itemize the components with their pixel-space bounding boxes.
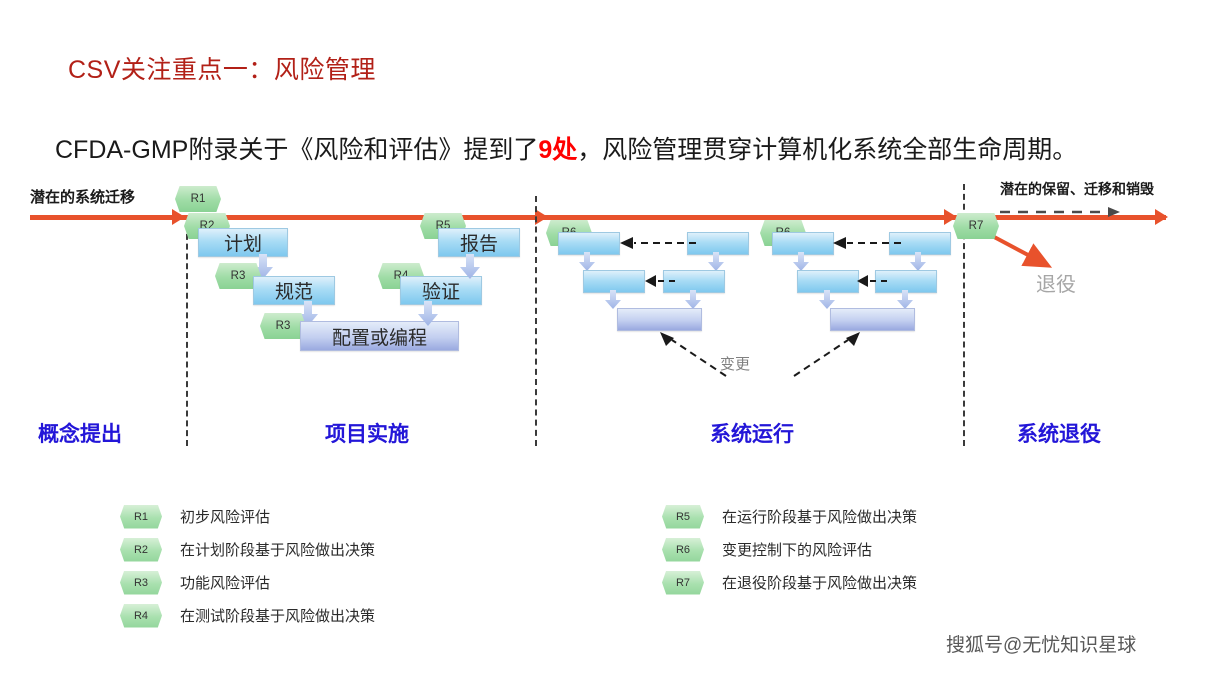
- legend-hex-icon: R6: [662, 538, 704, 562]
- phase-label-implementation: 项目实施: [325, 418, 409, 448]
- label-retire: 退役: [1036, 268, 1076, 297]
- down-arrow-b1-icon: [793, 252, 811, 272]
- subtitle-part-1: CFDA-GMP附录关于《风险和评估》提到了: [55, 136, 538, 164]
- subtitle-part-2: ，风险管理贯穿计算机化系统全部生命周期。: [577, 136, 1077, 164]
- dashed-arrow-a-top-icon: [620, 236, 698, 250]
- dashed-arrow-b-mid-icon: [857, 274, 889, 288]
- legend-description: 在计划阶段基于风险做出决策: [180, 539, 375, 560]
- dashed-arrow-b-top-icon: [833, 236, 903, 250]
- legend-description: 初步风险评估: [180, 506, 270, 527]
- down-arrow-a4-icon: [685, 290, 703, 310]
- timeline-arrowhead-4: [1155, 209, 1168, 225]
- legend-hex-icon: R5: [662, 505, 704, 529]
- legend-code: R5: [676, 511, 690, 523]
- legend-hex-icon: R4: [120, 604, 162, 628]
- legend-description: 在运行阶段基于风险做出决策: [722, 506, 917, 527]
- label-potential-migration: 潜在的系统迁移: [30, 186, 135, 207]
- slide-canvas: CSV关注重点一：风险管理 CFDA-GMP附录关于《风险和评估》提到了9处，风…: [0, 0, 1209, 680]
- legend-hex-icon: R7: [662, 571, 704, 595]
- process-box-verify: 验证: [400, 276, 482, 305]
- down-arrow-b2-icon: [910, 252, 928, 272]
- list-item: R6 变更控制下的风险评估: [662, 533, 917, 566]
- list-item: R7 在退役阶段基于风险做出决策: [662, 566, 917, 599]
- process-box-plan: 计划: [198, 228, 288, 257]
- down-arrow-report-to-verify-icon: [460, 254, 482, 280]
- risk-marker-label: R3: [276, 320, 291, 332]
- phase-divider-1: [186, 224, 188, 446]
- process-box-label: 配置或编程: [332, 323, 427, 350]
- legend-code: R3: [134, 577, 148, 589]
- risk-marker-label: R3: [231, 270, 246, 282]
- process-box-label: 规范: [275, 277, 313, 304]
- legend-description: 在退役阶段基于风险做出决策: [722, 572, 917, 593]
- down-arrow-a1-icon: [579, 252, 597, 272]
- watermark: 搜狐号@无忧知识星球: [946, 630, 1136, 657]
- legend-code: R6: [676, 544, 690, 556]
- legend-hex-icon: R1: [120, 505, 162, 529]
- down-arrow-verify-to-config-icon: [418, 301, 440, 327]
- legend-right-column: R5 在运行阶段基于风险做出决策 R6 变更控制下的风险评估 R7 在退役阶段基…: [662, 500, 917, 599]
- legend-description: 功能风险评估: [180, 572, 270, 593]
- risk-marker-label: R7: [969, 220, 984, 232]
- legend-left-column: R1 初步风险评估 R2 在计划阶段基于风险做出决策 R3 功能风险评估 R4 …: [120, 500, 375, 632]
- retain-dashed-arrow-icon: [1000, 204, 1130, 220]
- legend-code: R7: [676, 577, 690, 589]
- risk-marker-r7: R7: [953, 213, 999, 239]
- list-item: R3 功能风险评估: [120, 566, 375, 599]
- change-arrow-right-icon: [790, 332, 860, 380]
- list-item: R4 在测试阶段基于风险做出决策: [120, 599, 375, 632]
- process-box-spec: 规范: [253, 276, 335, 305]
- risk-marker-label: R1: [191, 193, 206, 205]
- list-item: R2 在计划阶段基于风险做出决策: [120, 533, 375, 566]
- process-box-label: 验证: [422, 277, 460, 304]
- label-potential-retain: 潜在的保留、迁移和销毁: [1000, 181, 1175, 198]
- process-box-label: 计划: [224, 229, 262, 256]
- operation-box-a5: [617, 308, 702, 331]
- list-item: R1 初步风险评估: [120, 500, 375, 533]
- down-arrow-b3-icon: [819, 290, 837, 310]
- process-box-label: 报告: [460, 229, 498, 256]
- phase-label-concept: 概念提出: [38, 418, 122, 448]
- legend-hex-icon: R2: [120, 538, 162, 562]
- legend-description: 在测试阶段基于风险做出决策: [180, 605, 375, 626]
- change-arrow-left-icon: [660, 332, 730, 380]
- page-title: CSV关注重点一：风险管理: [68, 50, 376, 86]
- down-arrow-a2-icon: [708, 252, 726, 272]
- down-arrow-b4-icon: [897, 290, 915, 310]
- legend-code: R2: [134, 544, 148, 556]
- risk-marker-r1: R1: [175, 186, 221, 212]
- list-item: R5 在运行阶段基于风险做出决策: [662, 500, 917, 533]
- subtitle: CFDA-GMP附录关于《风险和评估》提到了9处，风险管理贯穿计算机化系统全部生…: [55, 130, 1077, 166]
- legend-hex-icon: R3: [120, 571, 162, 595]
- legend-description: 变更控制下的风险评估: [722, 539, 872, 560]
- down-arrow-a3-icon: [605, 290, 623, 310]
- phase-label-retirement: 系统退役: [1017, 418, 1101, 448]
- subtitle-highlight: 9处: [538, 136, 577, 164]
- process-box-report: 报告: [438, 228, 520, 257]
- operation-box-b5: [830, 308, 915, 331]
- dashed-arrow-a-mid-icon: [645, 274, 677, 288]
- legend-code: R4: [134, 610, 148, 622]
- phase-label-operation: 系统运行: [710, 418, 794, 448]
- phase-divider-2: [535, 196, 537, 446]
- legend-code: R1: [134, 511, 148, 523]
